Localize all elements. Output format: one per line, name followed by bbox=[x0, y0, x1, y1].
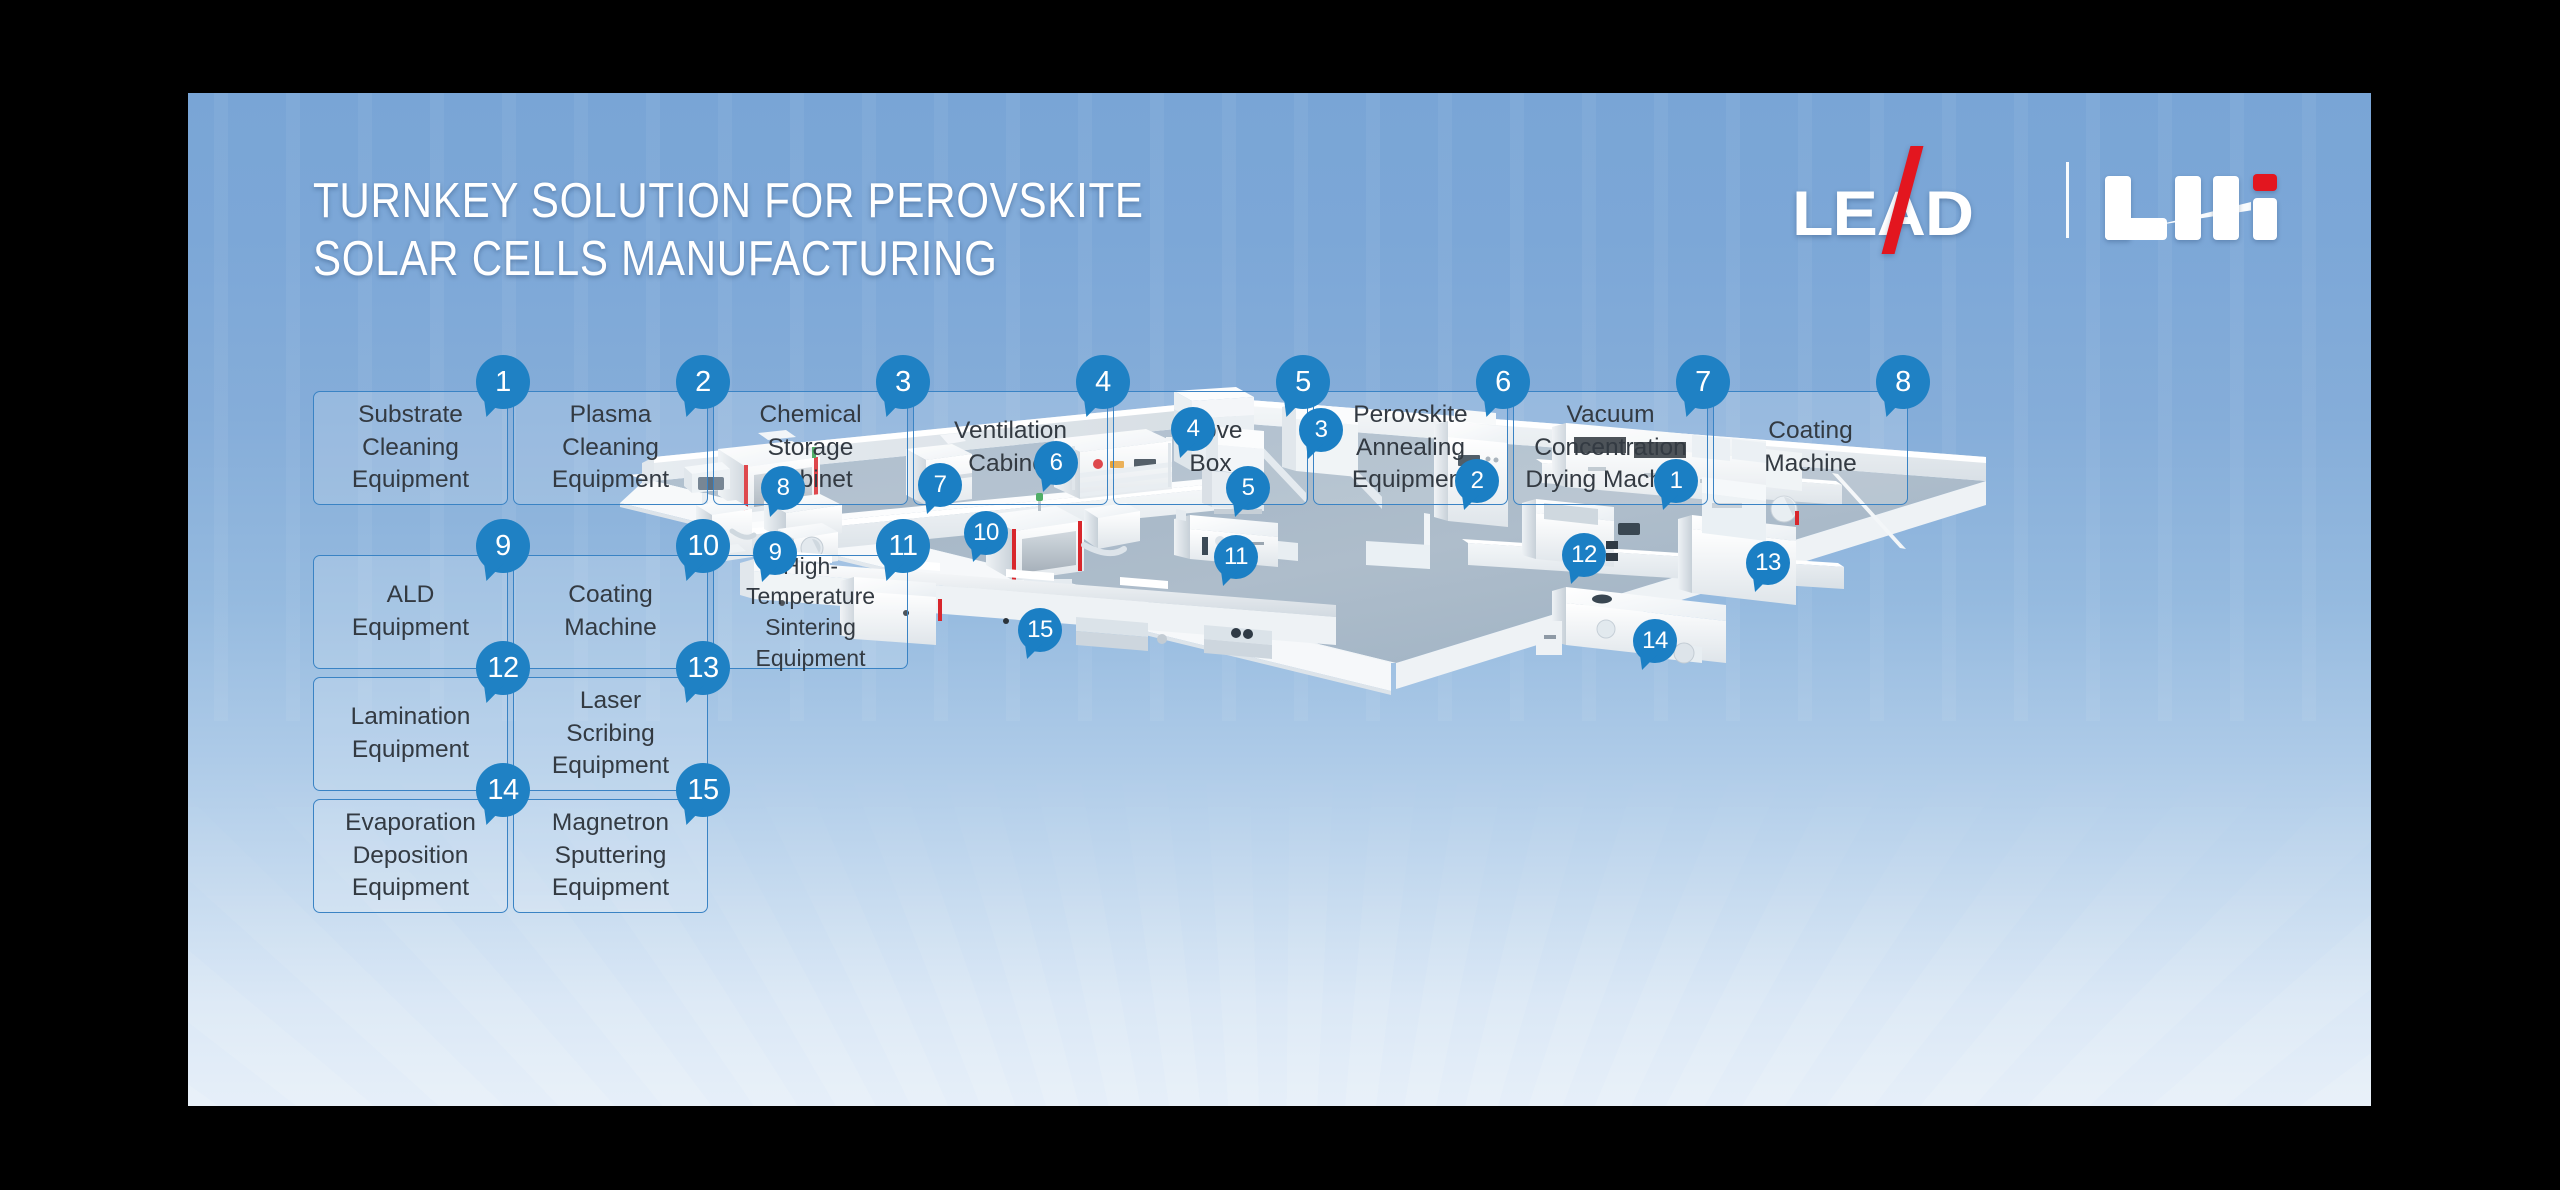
lead-logo: LEAD bbox=[1792, 154, 2032, 246]
legend-card-12-label: Lamination Equipment bbox=[324, 701, 497, 766]
lead-logo-wordmark: LEAD bbox=[1792, 178, 1973, 250]
map-marker-4[interactable]: 4 bbox=[1171, 407, 1215, 451]
legend-badge-11[interactable]: 11 bbox=[876, 519, 930, 573]
legend-badge-10[interactable]: 10 bbox=[676, 519, 730, 573]
map-marker-13[interactable]: 13 bbox=[1746, 541, 1790, 585]
map-marker-7[interactable]: 7 bbox=[918, 463, 962, 507]
legend-card-10-label: Coating Machine bbox=[524, 579, 697, 644]
legend-badge-12[interactable]: 12 bbox=[476, 641, 530, 695]
legend-card-8[interactable]: Coating Machine bbox=[1713, 391, 1908, 505]
legend-card-1-label: Substrate Cleaning Equipment bbox=[324, 399, 497, 497]
legend-badge-1[interactable]: 1 bbox=[476, 355, 530, 409]
legend-card-10[interactable]: Coating Machine bbox=[513, 555, 708, 669]
legend-badge-6[interactable]: 6 bbox=[1476, 355, 1530, 409]
lhi-logo-letter-h-left bbox=[2175, 176, 2201, 240]
legend-badge-4[interactable]: 4 bbox=[1076, 355, 1130, 409]
page-title-line-1: TURNKEY SOLUTION FOR PEROVSKITE bbox=[313, 174, 1144, 228]
lhi-logo-letter-h-right bbox=[2213, 176, 2239, 240]
legend-card-2-label: Plasma Cleaning Equipment bbox=[524, 399, 697, 497]
legend-card-13[interactable]: Laser Scribing Equipment bbox=[513, 677, 708, 791]
legend-badge-5[interactable]: 5 bbox=[1276, 355, 1330, 409]
legend-badge-15[interactable]: 15 bbox=[676, 763, 730, 817]
equipment-model-14 bbox=[1536, 587, 1726, 663]
legend-card-2[interactable]: Plasma Cleaning Equipment bbox=[513, 391, 708, 505]
legend-badge-3[interactable]: 3 bbox=[876, 355, 930, 409]
page-title-line-2: SOLAR CELLS MANUFACTURING bbox=[313, 232, 998, 286]
logo-divider bbox=[2066, 162, 2069, 238]
map-marker-3[interactable]: 3 bbox=[1299, 408, 1343, 452]
map-marker-6[interactable]: 6 bbox=[1034, 441, 1078, 485]
lhi-logo-letter-i-red-dot bbox=[2253, 174, 2277, 191]
legend-badge-14[interactable]: 14 bbox=[476, 763, 530, 817]
legend-card-3[interactable]: Chemical Storage Cabinet bbox=[713, 391, 908, 505]
legend-badge-9[interactable]: 9 bbox=[476, 519, 530, 573]
lhi-logo-letter-i-stem bbox=[2253, 198, 2277, 240]
legend-card-15-label: Magnetron Sputtering Equipment bbox=[524, 807, 697, 905]
legend-card-9-label: ALD Equipment bbox=[324, 579, 497, 644]
legend-card-15[interactable]: Magnetron Sputtering Equipment bbox=[513, 799, 708, 913]
screenshot-stage: TURNKEY SOLUTION FOR PEROVSKITESOLAR CEL… bbox=[0, 0, 2560, 1190]
legend-card-13-label: Laser Scribing Equipment bbox=[524, 685, 697, 783]
legend-card-8-label: Coating Machine bbox=[1724, 415, 1897, 480]
map-marker-5[interactable]: 5 bbox=[1226, 466, 1270, 510]
page-title: TURNKEY SOLUTION FOR PEROVSKITESOLAR CEL… bbox=[313, 173, 1173, 289]
legend-card-11-label: High-Temperature Sintering Equipment bbox=[724, 551, 897, 673]
map-marker-10[interactable]: 10 bbox=[964, 511, 1008, 555]
poster-panel: TURNKEY SOLUTION FOR PEROVSKITESOLAR CEL… bbox=[188, 93, 2371, 1106]
map-marker-15[interactable]: 15 bbox=[1018, 608, 1062, 652]
legend-card-14[interactable]: Evaporation Deposition Equipment bbox=[313, 799, 508, 913]
legend-card-12[interactable]: Lamination Equipment bbox=[313, 677, 508, 791]
map-marker-12[interactable]: 12 bbox=[1562, 533, 1606, 577]
legend-card-1[interactable]: Substrate Cleaning Equipment bbox=[313, 391, 508, 505]
legend-badge-13[interactable]: 13 bbox=[676, 641, 730, 695]
map-marker-1[interactable]: 1 bbox=[1654, 459, 1698, 503]
map-marker-14[interactable]: 14 bbox=[1633, 619, 1677, 663]
lhi-logo-letter-l-foot bbox=[2105, 218, 2167, 240]
brand-logo-group: LEAD bbox=[1792, 145, 2271, 255]
legend-badge-7[interactable]: 7 bbox=[1676, 355, 1730, 409]
legend-card-3-label: Chemical Storage Cabinet bbox=[724, 399, 897, 497]
legend-card-14-label: Evaporation Deposition Equipment bbox=[324, 807, 497, 905]
legend-badge-2[interactable]: 2 bbox=[676, 355, 730, 409]
map-marker-2[interactable]: 2 bbox=[1455, 459, 1499, 503]
legend-badge-8[interactable]: 8 bbox=[1876, 355, 1930, 409]
legend-card-9[interactable]: ALD Equipment bbox=[313, 555, 508, 669]
legend-card-11[interactable]: High-Temperature Sintering Equipment bbox=[713, 555, 908, 669]
map-marker-9[interactable]: 9 bbox=[753, 531, 797, 575]
map-marker-8[interactable]: 8 bbox=[761, 466, 805, 510]
lhi-logo bbox=[2103, 154, 2271, 246]
legend-card-5[interactable]: Glove Box bbox=[1113, 391, 1308, 505]
map-marker-11[interactable]: 11 bbox=[1214, 535, 1258, 579]
